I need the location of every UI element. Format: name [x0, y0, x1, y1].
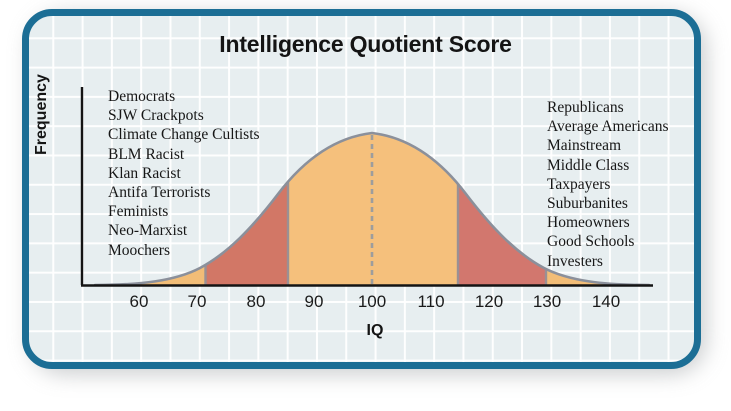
x-tick-140: 140	[584, 292, 628, 312]
x-tick-80: 80	[234, 292, 278, 312]
x-tick-70: 70	[175, 292, 219, 312]
list-item: Good Schools	[547, 232, 669, 251]
list-item: Democrats	[108, 87, 260, 106]
x-tick-60: 60	[117, 292, 161, 312]
list-item: Investers	[547, 252, 669, 271]
list-item: SJW Crackpots	[108, 106, 260, 125]
list-item: Suburbanites	[547, 194, 669, 213]
list-item: Middle Class	[547, 156, 669, 175]
list-item: Neo-Marxist	[108, 221, 260, 240]
x-tick-110: 110	[409, 292, 453, 312]
chart-title: Intelligence Quotient Score	[0, 31, 731, 58]
list-item: Moochers	[108, 241, 260, 260]
list-item: Taxpayers	[547, 175, 669, 194]
x-tick-130: 130	[525, 292, 569, 312]
list-item: Klan Racist	[108, 164, 260, 183]
x-tick-90: 90	[292, 292, 336, 312]
list-item: Average Americans	[547, 117, 669, 136]
image-frame: Intelligence Quotient Score Frequency IQ…	[0, 0, 731, 411]
x-tick-100: 100	[350, 292, 394, 312]
list-item: Homeowners	[547, 213, 669, 232]
x-tick-120: 120	[467, 292, 511, 312]
list-item: Mainstream	[547, 136, 669, 155]
left-annotation-list: Democrats SJW Crackpots Climate Change C…	[108, 87, 260, 260]
list-item: Feminists	[108, 202, 260, 221]
list-item: Republicans	[547, 98, 669, 117]
list-item: Antifa Terrorists	[108, 183, 260, 202]
x-axis-label: IQ	[290, 322, 460, 340]
right-annotation-list: Republicans Average Americans Mainstream…	[547, 98, 669, 271]
list-item: Climate Change Cultists	[108, 125, 260, 144]
y-axis-label: Frequency	[33, 74, 51, 155]
list-item: BLM Racist	[108, 145, 260, 164]
